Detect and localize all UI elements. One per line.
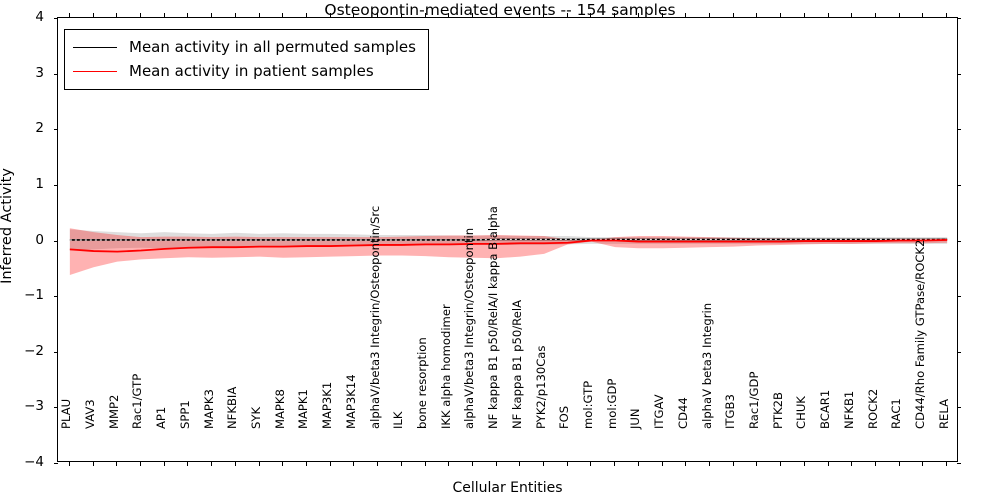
legend-line-icon-red [73, 71, 117, 72]
x-tick-mark [472, 462, 473, 466]
x-tick-mark [259, 462, 260, 466]
x-tick-label: MMP2 [107, 395, 121, 429]
x-tick-mark [543, 462, 544, 466]
x-tick-mark [235, 462, 236, 466]
x-tick-label: alphaV/beta3 Integrin/Osteopontin [462, 228, 476, 429]
x-tick-mark [733, 462, 734, 466]
x-tick-mark [425, 462, 426, 466]
x-tick-mark [401, 462, 402, 466]
x-tick-label: NF kappa B1 p50/RelA/I kappa B alpha [486, 206, 500, 429]
x-tick-label: bone resorption [415, 337, 429, 429]
x-axis-title: Cellular Entities [57, 480, 958, 496]
x-tick-mark [756, 462, 757, 466]
x-tick-mark [899, 462, 900, 466]
x-tick-label: FOS [557, 406, 571, 429]
x-tick-mark [946, 462, 947, 466]
x-tick-label: SPP1 [178, 400, 192, 429]
x-tick-label: MAP3K14 [344, 374, 358, 429]
x-tick-label: JUN [628, 408, 642, 429]
x-tick-mark [851, 462, 852, 466]
x-tick-label: BCAR1 [818, 390, 832, 429]
x-tick-mark [567, 462, 568, 466]
x-tick-label: NFKBIA [225, 387, 239, 429]
y-axis-title-wrap: Inferred Activity [0, 0, 52, 500]
x-tick-label: VAV3 [83, 399, 97, 429]
x-tick-mark [116, 462, 117, 466]
x-tick-label: SYK [249, 407, 263, 429]
x-tick-label: ITGB3 [723, 394, 737, 429]
x-tick-label: PYK2/p130Cas [534, 346, 548, 429]
x-tick-label: alphaV beta3 Integrin [700, 303, 714, 429]
x-tick-label: ILK [391, 412, 405, 429]
x-tick-mark [804, 462, 805, 466]
x-tick-mark [519, 462, 520, 466]
legend-line-icon-black [73, 47, 117, 48]
x-tick-label: ROCK2 [866, 389, 880, 429]
legend-entry-patient: Mean activity in patient samples [73, 59, 416, 83]
x-tick-label: MAPK3 [202, 389, 216, 429]
y-axis-title: Inferred Activity [0, 0, 15, 456]
x-tick-label: ITGAV [652, 394, 666, 429]
x-tick-label: CHUK [794, 396, 808, 429]
x-tick-mark [140, 462, 141, 466]
x-tick-label: AP1 [154, 407, 168, 429]
x-tick-mark [306, 462, 307, 466]
x-tick-mark [164, 462, 165, 466]
x-tick-mark [780, 462, 781, 466]
x-tick-mark [211, 462, 212, 466]
x-tick-label: PLAU [59, 399, 73, 429]
x-tick-label: NF kappa B1 p50/RelA [510, 300, 524, 429]
x-tick-label: CD44 [676, 397, 690, 429]
x-tick-mark [448, 462, 449, 466]
x-tick-label: NFKB1 [842, 391, 856, 429]
x-tick-mark [828, 462, 829, 466]
x-tick-mark [614, 462, 615, 466]
x-tick-mark [709, 462, 710, 466]
x-tick-label: PTK2B [771, 392, 785, 429]
x-tick-label: RAC1 [889, 398, 903, 429]
chart-root: Osteopontin-mediated events -- 154 sampl… [0, 0, 1000, 500]
y-tick-mark [54, 463, 58, 464]
legend-label-patient: Mean activity in patient samples [129, 62, 374, 80]
x-tick-mark [875, 462, 876, 466]
x-tick-mark [330, 462, 331, 466]
x-tick-mark [377, 462, 378, 466]
x-tick-mark [662, 462, 663, 466]
x-tick-label: alphaV/beta3 Integrin/Osteopontin/Src [368, 206, 382, 429]
x-tick-mark [93, 462, 94, 466]
x-tick-label: MAPK1 [296, 389, 310, 429]
x-tick-mark [922, 462, 923, 466]
x-tick-label: Rac1/GDP [747, 372, 761, 429]
legend-entry-permuted: Mean activity in all permuted samples [73, 35, 416, 59]
x-tick-mark [685, 462, 686, 466]
x-tick-mark [69, 462, 70, 466]
x-tick-label: mol:GDP [605, 379, 619, 429]
x-tick-mark [353, 462, 354, 466]
x-tick-label: Rac1/GTP [130, 374, 144, 429]
y-tick-mark [957, 463, 961, 464]
x-tick-label: MAP3K1 [320, 382, 334, 429]
x-tick-label: IKK alpha homodimer [439, 304, 453, 429]
x-tick-label: CD44/Rho Family GTPase/ROCK2 [913, 240, 927, 429]
x-tick-mark [496, 462, 497, 466]
x-tick-mark [638, 462, 639, 466]
legend-label-permuted: Mean activity in all permuted samples [129, 38, 416, 56]
legend: Mean activity in all permuted samples Me… [64, 29, 429, 90]
x-tick-label: MAPK8 [273, 389, 287, 429]
x-tick-mark [590, 462, 591, 466]
x-tick-label: mol:GTP [581, 381, 595, 429]
x-tick-label: RELA [937, 399, 951, 429]
x-tick-mark [187, 462, 188, 466]
x-tick-mark [282, 462, 283, 466]
